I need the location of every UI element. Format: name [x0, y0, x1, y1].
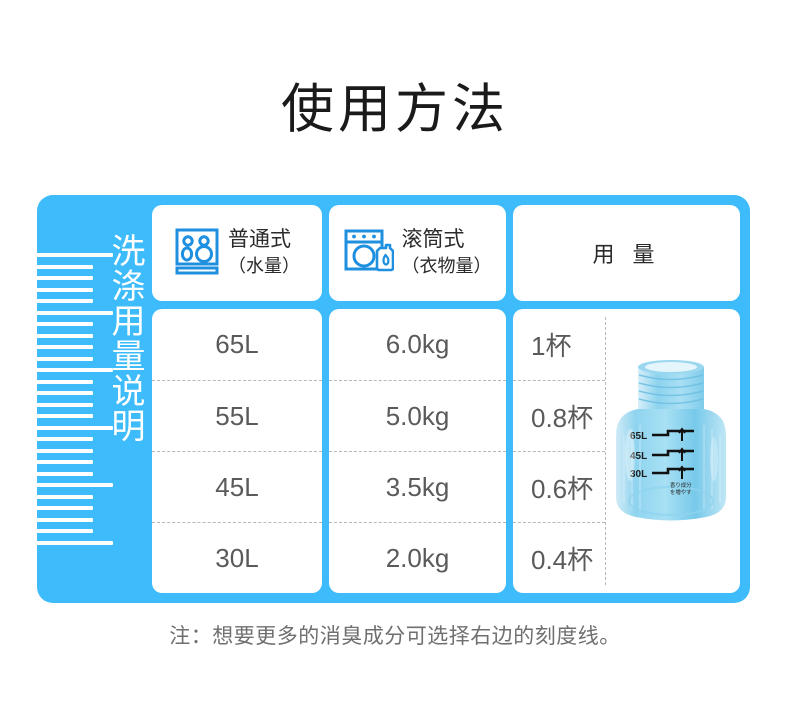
- ruler-tick: [19, 460, 93, 464]
- header-cell-dose: 用 量: [513, 205, 740, 301]
- header-subtitle-water: （水量）: [228, 253, 300, 280]
- table-row: 3.5kg: [329, 451, 506, 522]
- bottle-caption: 香り成分: [670, 481, 692, 489]
- ruler-tick: [19, 357, 93, 361]
- ruler-tick: [19, 414, 93, 418]
- ruler-tick: [19, 518, 93, 522]
- ruler-tick: [19, 380, 93, 384]
- dose-divider: [605, 317, 606, 585]
- ruler-tick: [19, 472, 93, 476]
- header-cell-water: 普通式 （水量）: [152, 205, 322, 301]
- usage-note: 注：想要更多的消臭成分可选择右边的刻度线。: [0, 620, 790, 650]
- usage-table: 普通式 （水量）: [152, 205, 740, 593]
- column-water-values: 65L 55L 45L 30L: [152, 309, 322, 593]
- ruler-tick: [19, 391, 93, 395]
- ruler-tick: [19, 449, 93, 453]
- table-row: 55L: [152, 380, 322, 451]
- ruler-tick: [19, 506, 93, 510]
- ruler-tick: [19, 437, 93, 441]
- side-label-text: 洗涤用量说明: [97, 233, 147, 563]
- header-title-load: 滚筒式: [402, 228, 465, 251]
- table-body-row: 65L 55L 45L 30L 6.0kg 5.0kg 3.5kg 2.0kg …: [152, 309, 740, 593]
- measuring-cap-image: 65L 45L 30L: [608, 359, 734, 539]
- table-row: 0.6杯: [513, 451, 605, 522]
- table-header-row: 普通式 （水量）: [152, 205, 740, 301]
- usage-panel: 洗涤用量说明: [37, 195, 750, 603]
- ruler-tick: [19, 276, 93, 280]
- bottle-caption: を増やす: [670, 488, 692, 496]
- table-row: 0.4杯: [513, 522, 605, 593]
- front-load-washer-bottle-icon: [344, 227, 394, 280]
- page-title: 使用方法: [0, 78, 790, 142]
- ruler-tick: [19, 403, 93, 407]
- table-row: 30L: [152, 522, 322, 593]
- table-row: 2.0kg: [329, 522, 506, 593]
- column-dose-values: 1杯 0.8杯 0.6杯 0.4杯: [513, 309, 740, 593]
- table-row: 45L: [152, 451, 322, 522]
- ruler-tick: [19, 322, 93, 326]
- header-label-load: 滚筒式 （衣物量）: [402, 226, 492, 280]
- header-title-water: 普通式: [228, 228, 291, 251]
- header-subtitle-load: （衣物量）: [402, 253, 492, 280]
- ruler-tick: [19, 529, 93, 533]
- ruler-tick: [19, 299, 93, 303]
- table-row: 0.8杯: [513, 380, 605, 451]
- table-row: 65L: [152, 309, 322, 380]
- ruler-tick: [19, 334, 93, 338]
- top-load-washer-icon: [174, 227, 220, 280]
- header-cell-load: 滚筒式 （衣物量）: [329, 205, 506, 301]
- column-load-values: 6.0kg 5.0kg 3.5kg 2.0kg: [329, 309, 506, 593]
- table-row: 1杯: [513, 309, 605, 380]
- ruler-tick: [19, 495, 93, 499]
- table-row: 5.0kg: [329, 380, 506, 451]
- header-title-dose: 用 量: [592, 237, 660, 269]
- ruler-tick: [19, 345, 93, 349]
- header-label-water: 普通式 （水量）: [228, 226, 300, 280]
- ruler-tick: [19, 288, 93, 292]
- ruler-tick: [19, 265, 93, 269]
- table-row: 6.0kg: [329, 309, 506, 380]
